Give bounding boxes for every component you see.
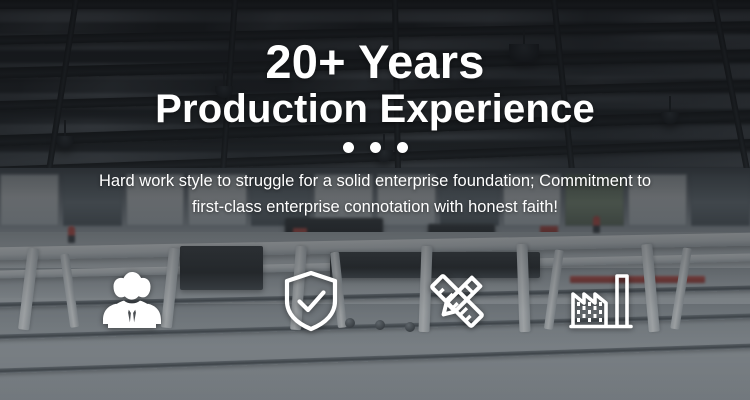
feature-item-factory: [564, 266, 638, 336]
feature-item-team: [95, 266, 169, 336]
promo-banner: 20+ Years Production Experience Hard wor…: [0, 0, 750, 400]
separator-dot: [370, 142, 381, 153]
shield-check-icon: [283, 270, 339, 332]
feature-item-design: [420, 266, 494, 336]
team-people-icon: [99, 270, 165, 332]
pencil-ruler-icon: [426, 270, 488, 332]
separator-dot: [397, 142, 408, 153]
feature-icon-row: [0, 266, 750, 336]
headline-line-1: 20+ Years: [265, 38, 484, 86]
feature-item-quality: [274, 266, 348, 336]
subtitle-line-1: Hard work style to struggle for a solid …: [69, 169, 681, 195]
subtitle-block: Hard work style to struggle for a solid …: [69, 169, 681, 220]
factory-icon: [569, 272, 633, 330]
dot-separator: [343, 142, 408, 153]
subtitle-line-2: first-class enterprise connotation with …: [69, 195, 681, 221]
banner-content: 20+ Years Production Experience Hard wor…: [0, 0, 750, 400]
headline-line-2: Production Experience: [155, 88, 595, 130]
separator-dot: [343, 142, 354, 153]
